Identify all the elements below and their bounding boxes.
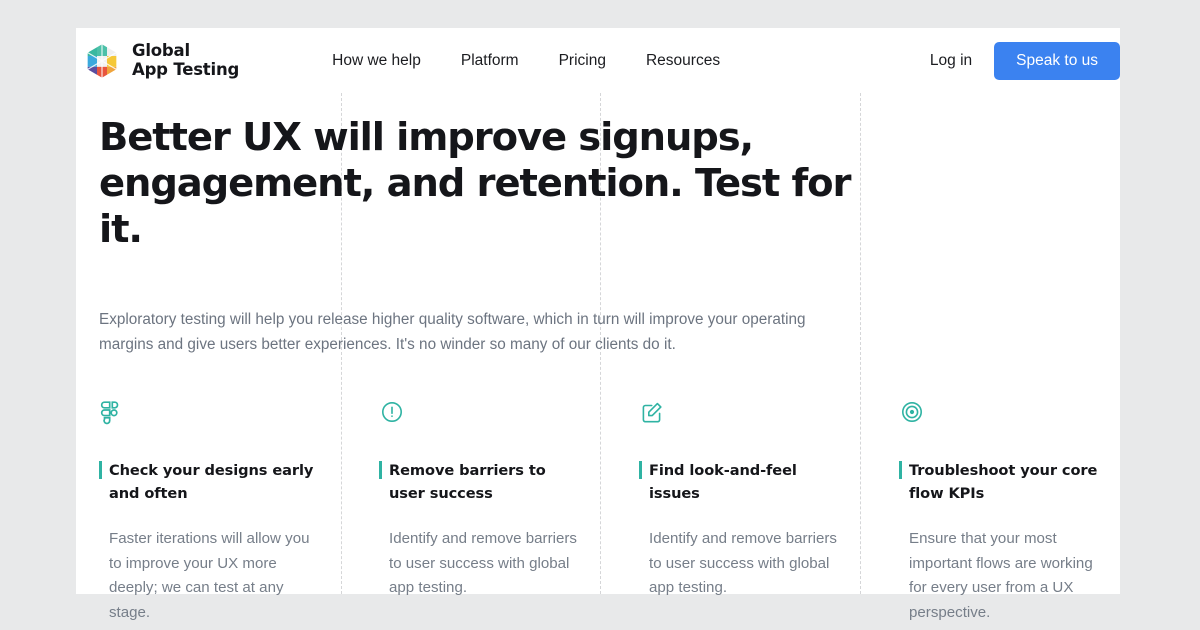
nav-item-platform[interactable]: Platform xyxy=(441,44,539,78)
page-title: Better UX will improve signups, engageme… xyxy=(99,115,889,252)
page-container: Global App Testing How we help Platform … xyxy=(76,28,1120,594)
alert-circle-icon xyxy=(379,401,405,431)
nav-item-resources[interactable]: Resources xyxy=(626,44,740,78)
figma-icon xyxy=(99,401,123,431)
feature-heading-3: Find look-and-feel issues xyxy=(639,460,842,505)
nav-item-how-we-help[interactable]: How we help xyxy=(312,44,441,78)
feature-body-2: Identify and remove barriers to user suc… xyxy=(379,527,582,601)
feature-heading-2: Remove barriers to user success xyxy=(379,460,582,505)
brand-name: Global App Testing xyxy=(132,42,239,79)
global-app-testing-hex-logo-icon xyxy=(82,41,122,81)
site-header: Global App Testing How we help Platform … xyxy=(76,28,1120,93)
features-section: Check your designs early and often Faste… xyxy=(76,401,1120,626)
feature-body-1: Faster iterations will allow you to impr… xyxy=(99,527,322,625)
feature-card-4: Troubleshoot your core flow KPIs Ensure … xyxy=(880,401,1140,626)
feature-card-1: Check your designs early and often Faste… xyxy=(99,401,360,626)
feature-body-4: Ensure that your most important flows ar… xyxy=(899,527,1102,625)
feature-heading-1: Check your designs early and often xyxy=(99,460,322,505)
edit-square-icon xyxy=(639,401,665,431)
target-icon xyxy=(899,401,925,431)
hero-subtitle: Exploratory testing will help you releas… xyxy=(99,308,841,358)
feature-title-1: Check your designs early and often xyxy=(109,460,322,505)
feature-card-2: Remove barriers to user success Identify… xyxy=(360,401,620,626)
feature-card-3: Find look-and-feel issues Identify and r… xyxy=(620,401,880,626)
feature-title-3: Find look-and-feel issues xyxy=(649,460,842,505)
nav-item-pricing[interactable]: Pricing xyxy=(539,44,626,78)
header-actions: Log in Speak to us xyxy=(908,42,1120,80)
feature-title-4: Troubleshoot your core flow KPIs xyxy=(909,460,1102,505)
hero-section: Better UX will improve signups, engageme… xyxy=(76,115,1120,358)
login-link[interactable]: Log in xyxy=(908,44,994,78)
feature-heading-4: Troubleshoot your core flow KPIs xyxy=(899,460,1102,505)
feature-body-3: Identify and remove barriers to user suc… xyxy=(639,527,842,601)
main-navigation: How we help Platform Pricing Resources xyxy=(312,44,740,78)
feature-title-2: Remove barriers to user success xyxy=(389,460,582,505)
speak-to-us-button[interactable]: Speak to us xyxy=(994,42,1120,80)
brand-logo-link[interactable]: Global App Testing xyxy=(82,41,239,81)
